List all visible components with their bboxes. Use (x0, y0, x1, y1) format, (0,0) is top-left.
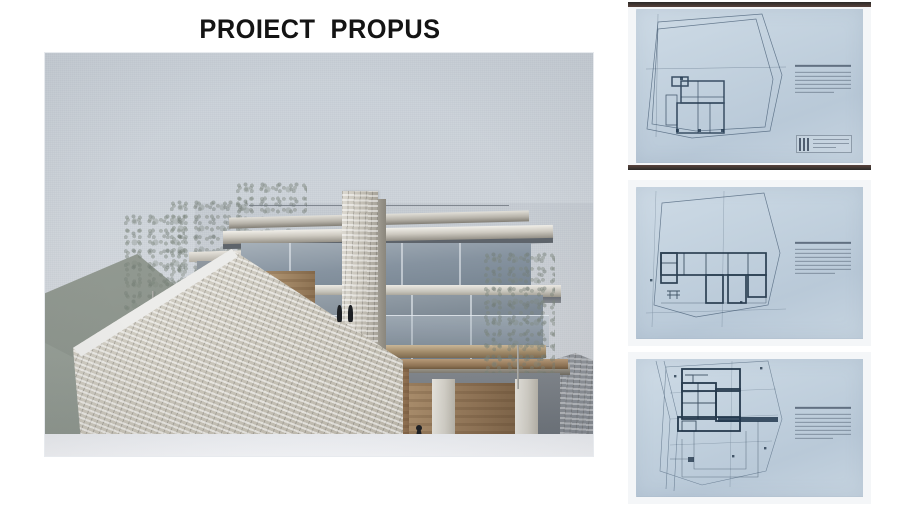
drawing-legend (795, 65, 851, 111)
presentation-slide: PROIECT PROPUS (0, 0, 900, 506)
drawing-legend (795, 407, 851, 453)
architectural-rendering-image: Color perspective rendering of a propose… (45, 53, 593, 456)
blueprint-paper (636, 359, 863, 497)
drawing-sheet-upper-floor-plan[interactable]: Plan etaj (628, 180, 871, 346)
drawing-sheet-ground-floor-plan[interactable]: Plan parter (628, 352, 871, 504)
office-logo-icon (799, 138, 810, 151)
sheet-bottom-edge (628, 165, 871, 170)
photo-vignette (45, 53, 593, 456)
sheet-label: Plan parter (628, 352, 629, 353)
drawing-sheet-site-plan[interactable]: Plan de situatie (628, 2, 871, 170)
sheet-label: Plan etaj (628, 180, 629, 181)
drawing-title-block (796, 135, 852, 153)
sheet-top-edge (628, 2, 871, 7)
blueprint-paper (636, 9, 863, 163)
title-block-lines (813, 139, 849, 151)
blueprint-paper (636, 187, 863, 339)
page-title: PROIECT PROPUS (62, 14, 579, 45)
drawing-legend (795, 242, 851, 288)
